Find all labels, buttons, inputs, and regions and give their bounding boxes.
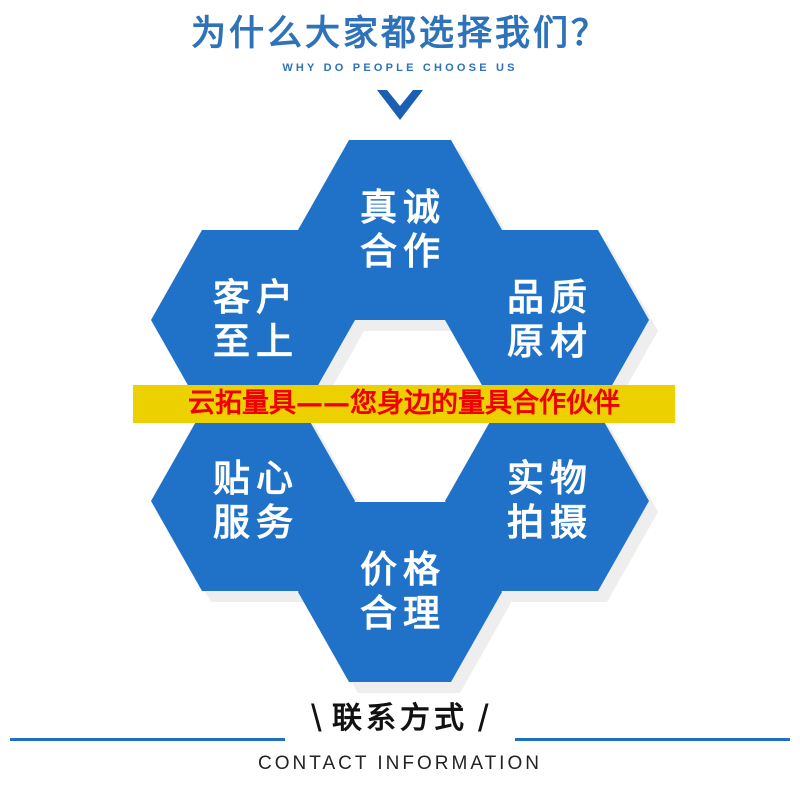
hexagon-label-line1: 实物	[501, 457, 593, 501]
hexagon-label-line2: 合作	[354, 230, 446, 274]
watermark-text: 云拓量具——您身边的量具合作伙伴	[188, 389, 620, 419]
slash-left-icon: /	[311, 699, 322, 739]
watermark-banner: 云拓量具——您身边的量具合作伙伴	[133, 385, 675, 423]
footer-title-row: / 联系方式 /	[0, 695, 800, 743]
hexagon-label-line2: 拍摄	[501, 501, 593, 545]
hexagon-label-line1: 真诚	[354, 186, 446, 230]
footer-title: 联系方式	[328, 699, 472, 739]
footer-rule-right	[515, 738, 790, 741]
slash-right-icon: /	[478, 699, 489, 739]
hexagon-label-line1: 品质	[501, 276, 593, 320]
page-subtitle: WHY DO PEOPLE CHOOSE US	[0, 62, 800, 74]
hexagon-label-line2: 原材	[501, 320, 593, 364]
hexagon-label-line2: 至上	[207, 320, 299, 364]
header: 为什么大家都选择我们？ WHY DO PEOPLE CHOOSE US	[0, 0, 800, 120]
chevron-down-icon	[0, 90, 800, 120]
page-title: 为什么大家都选择我们？	[0, 12, 800, 56]
footer: / 联系方式 / CONTACT INFORMATION	[0, 695, 800, 775]
hexagon-label-line2: 合理	[354, 592, 446, 636]
hexagon-label-line1: 价格	[354, 548, 446, 592]
hexagon-label-line2: 服务	[207, 501, 299, 545]
footer-rule-left	[10, 738, 285, 741]
hexagon-label-line1: 贴心	[207, 457, 299, 501]
footer-subtitle: CONTACT INFORMATION	[0, 753, 800, 775]
hexagon-label-line1: 客户	[207, 276, 299, 320]
poster-root: 为什么大家都选择我们？ WHY DO PEOPLE CHOOSE US 真诚 合…	[0, 0, 800, 794]
